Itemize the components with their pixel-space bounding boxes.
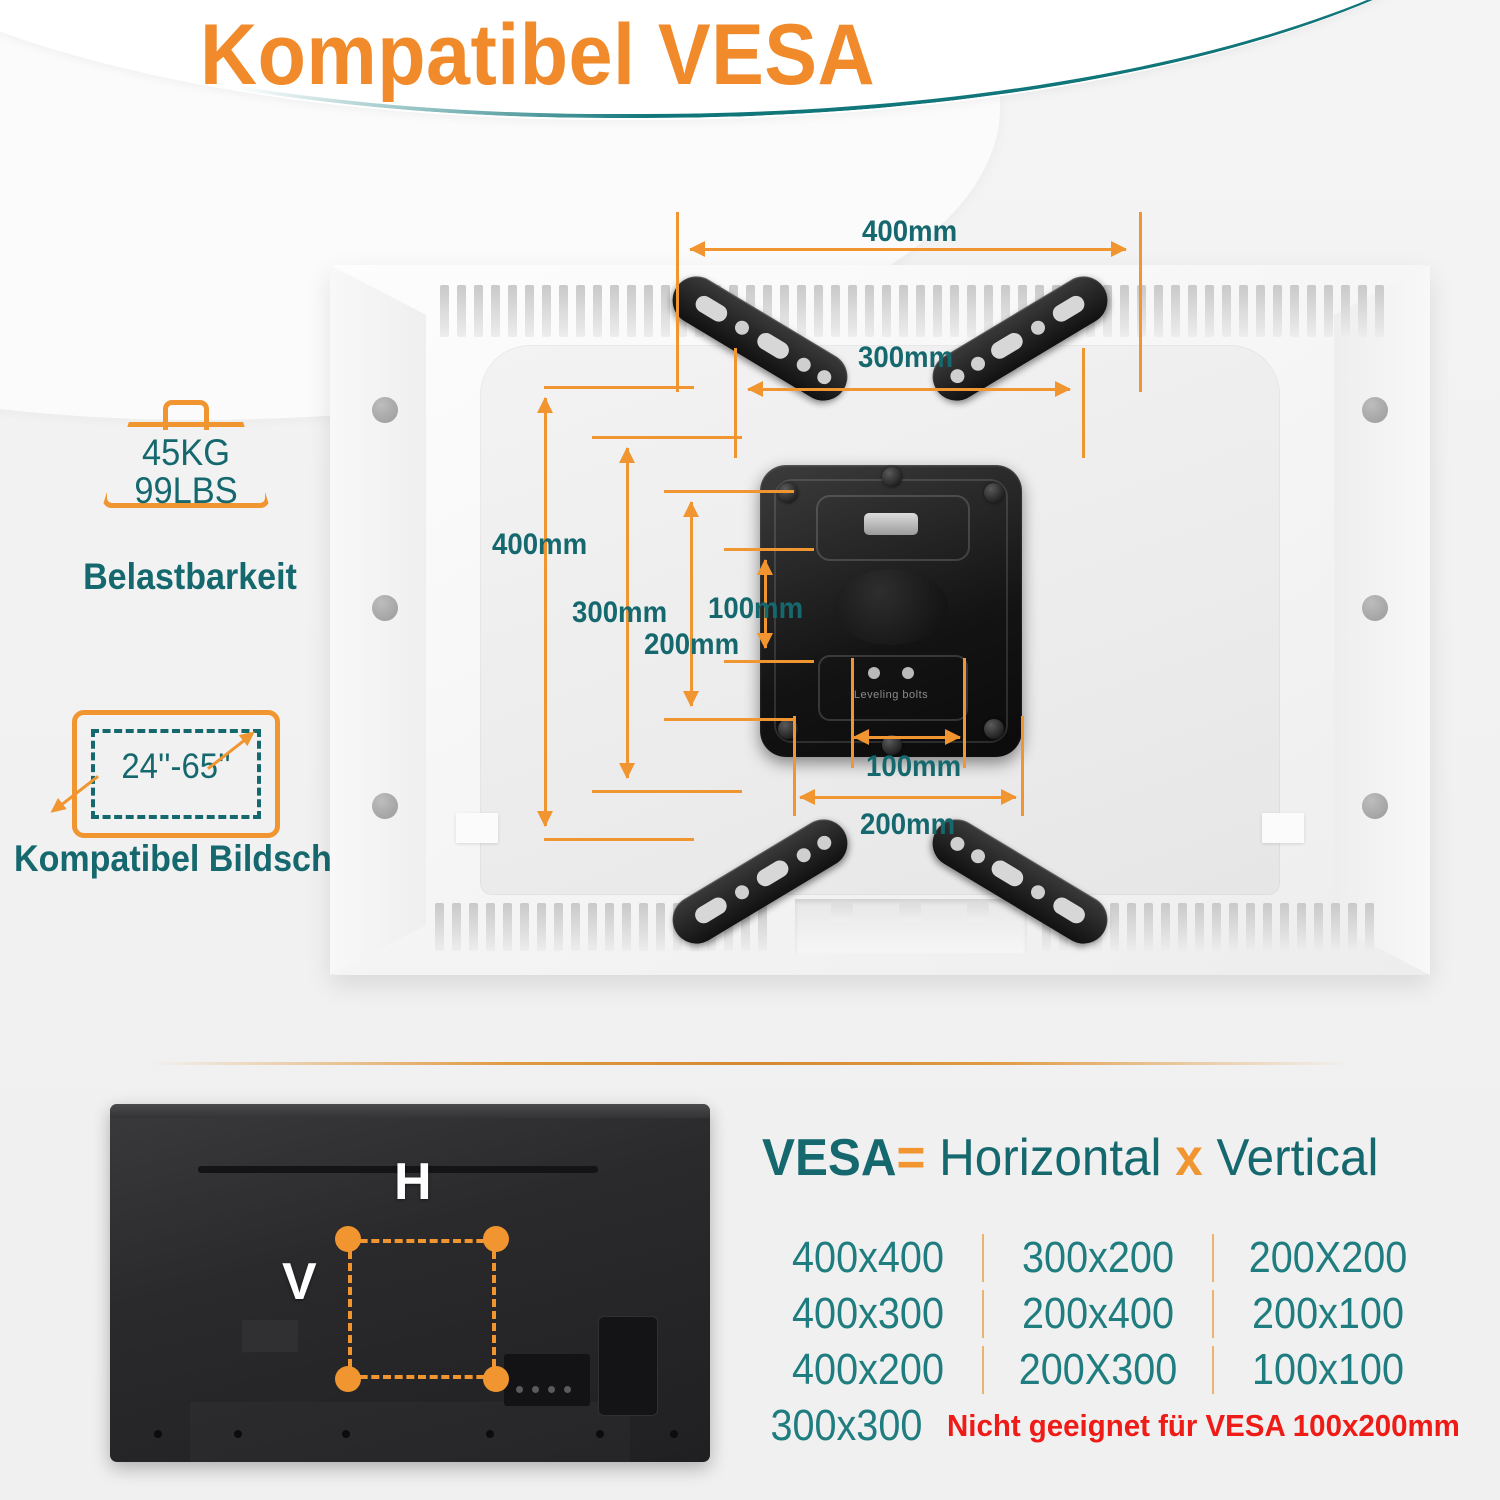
mount-bolt [984, 719, 1004, 739]
vesa-size: 200X300 [1003, 1342, 1194, 1398]
vesa-size: 300x300 [770, 1398, 922, 1454]
vesa-hole-dot [335, 1366, 361, 1392]
column-divider [1212, 1234, 1214, 1282]
vesa-formula-equals: = [897, 1129, 926, 1187]
tv-photo-top-edge [110, 1104, 710, 1118]
vesa-formula: VESA= Horizontal x Vertical [762, 1128, 1378, 1188]
table-row: 300x300 Nicht geeignet für VESA 100x200m… [762, 1398, 1442, 1454]
vesa-pattern-dashed-box [348, 1239, 496, 1379]
vesa-warning: Nicht geeignet für VESA 100x200mm [947, 1398, 1460, 1454]
tv-photo-screw [486, 1430, 494, 1438]
guide-line [544, 386, 694, 389]
capacity-lbs: 99LBS [108, 472, 264, 510]
vesa-hole-dot [483, 1226, 509, 1252]
vesa-size: 100x100 [1233, 1342, 1424, 1398]
guide-line [676, 212, 679, 392]
tv-left-bezel [330, 265, 426, 975]
guide-line [592, 790, 742, 793]
tv-photo-bottom-panel [190, 1402, 630, 1462]
tv-photo-side-ports [598, 1316, 658, 1416]
vesa-size: 200x400 [1003, 1286, 1194, 1342]
tv-screw-hole [1362, 595, 1388, 621]
tv-photo-screw [154, 1430, 162, 1438]
tv-photo-label-plate [242, 1320, 298, 1352]
dimension-label-300mm-h: 300mm [858, 341, 953, 375]
tv-photo-screw [596, 1430, 604, 1438]
tv-screw-hole [372, 595, 398, 621]
dimension-arrow-200-vertical [690, 502, 693, 706]
dimension-label-100mm-h: 100mm [866, 750, 961, 784]
guide-line [1021, 716, 1024, 816]
screen-label: Kompatibel Bildschirm [14, 838, 336, 880]
tv-clip-left [456, 813, 498, 843]
tv-back-photo: H V [110, 1104, 710, 1462]
column-divider [982, 1346, 984, 1394]
guide-line [664, 718, 794, 721]
guide-line [724, 660, 814, 663]
tv-right-bezel [1334, 265, 1430, 975]
tv-clip-right [1262, 813, 1304, 843]
dimension-label-300mm-v: 300mm [572, 596, 667, 630]
dimension-label-200mm-v: 200mm [644, 628, 739, 662]
tv-screw-hole [1362, 793, 1388, 819]
vesa-size: 400x200 [773, 1342, 964, 1398]
vesa-formula-name: VESA [762, 1129, 897, 1187]
guide-line [793, 716, 796, 816]
tv-photo-screw [342, 1430, 350, 1438]
vesa-size: 200X200 [1233, 1230, 1424, 1286]
tv-photo-screw [234, 1430, 242, 1438]
column-divider [982, 1234, 984, 1282]
leveling-bolts-label: Leveling bolts [818, 689, 964, 701]
guide-line [1082, 348, 1085, 458]
column-divider [1212, 1346, 1214, 1394]
dimension-arrow-300-horizontal [748, 388, 1070, 391]
vesa-size: 400x300 [773, 1286, 964, 1342]
mount-bolt [984, 483, 1004, 503]
vesa-size: 300x200 [1003, 1230, 1194, 1286]
vesa-size: 200x100 [1233, 1286, 1424, 1342]
dimension-label-100mm-v: 100mm [708, 592, 803, 626]
table-row: 400x400 300x200 200X200 [762, 1230, 1442, 1286]
infographic-page: Kompatibel VESA 45KG 99LBS Belastbarkeit… [0, 0, 1500, 1500]
vesa-size-table: 400x400 300x200 200X200 400x300 200x400 … [762, 1230, 1442, 1454]
dimension-arrow-200-horizontal [800, 796, 1016, 799]
tv-port-recess [795, 899, 1027, 953]
section-divider [150, 1062, 1350, 1065]
mount-bolt [778, 483, 798, 503]
tv-screw-hole [372, 793, 398, 819]
vesa-hole-dot [483, 1366, 509, 1392]
column-divider [982, 1290, 984, 1338]
vesa-formula-vertical: Vertical [1216, 1129, 1378, 1187]
tv-screw-hole [1362, 397, 1388, 423]
guide-line [592, 436, 742, 439]
tv-screw-hole [372, 397, 398, 423]
dimension-arrow-100-horizontal [854, 736, 960, 739]
table-row: 400x300 200x400 200x100 [762, 1286, 1442, 1342]
guide-line [963, 658, 966, 768]
horizontal-axis-label: H [394, 1152, 432, 1212]
tv-photo-io-ports [504, 1354, 590, 1406]
vesa-formula-horizontal: Horizontal [939, 1129, 1161, 1187]
capacity-values: 45KG 99LBS [108, 434, 264, 510]
dimension-label-200mm-h: 200mm [860, 808, 955, 842]
capacity-label: Belastbarkeit [43, 556, 337, 598]
guide-line [1139, 212, 1142, 392]
page-title: Kompatibel VESA [200, 6, 875, 105]
vesa-formula-times: x [1175, 1129, 1202, 1187]
mount-bolt [882, 467, 902, 487]
guide-line [544, 838, 694, 841]
vesa-hole-dot [335, 1226, 361, 1252]
mount-lower-recess [818, 655, 968, 721]
capacity-kg: 45KG [108, 434, 264, 472]
table-row: 400x200 200X300 100x100 [762, 1342, 1442, 1398]
screen-size-value: 24''-65'' [78, 747, 274, 787]
mount-pivot-circle [834, 569, 948, 645]
guide-line [734, 348, 737, 458]
tv-vent-top [440, 285, 1406, 337]
tv-photo-screw [670, 1430, 678, 1438]
mount-grip-handle [864, 513, 918, 535]
dimension-arrow-400-vertical [544, 398, 547, 826]
column-divider [1212, 1290, 1214, 1338]
dimension-label-400mm-h: 400mm [862, 215, 957, 249]
vertical-axis-label: V [282, 1252, 317, 1312]
guide-line [724, 548, 814, 551]
guide-line [664, 490, 794, 493]
vesa-size: 400x400 [773, 1230, 964, 1286]
dimension-label-400mm-v: 400mm [492, 528, 587, 562]
guide-line [851, 658, 854, 768]
